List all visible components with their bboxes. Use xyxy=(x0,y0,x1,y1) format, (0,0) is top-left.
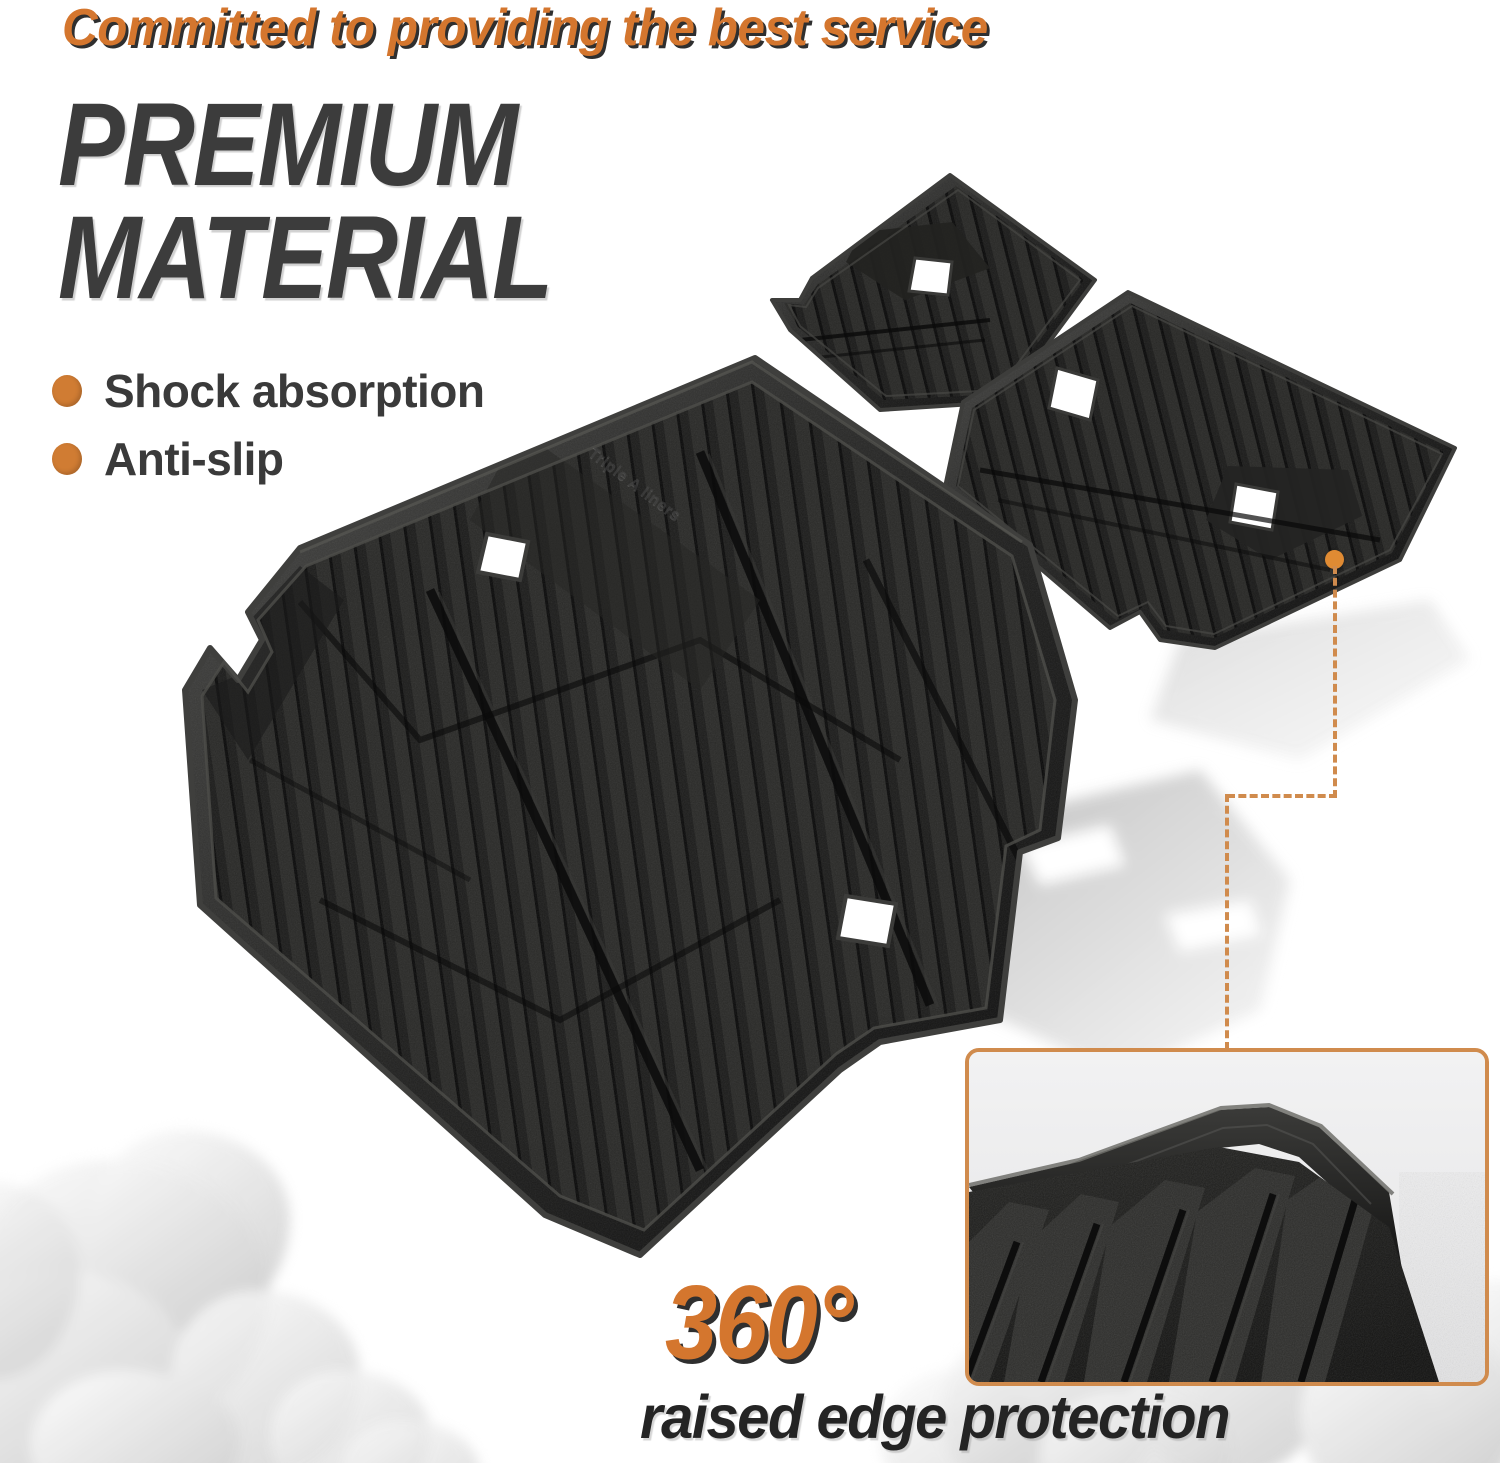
leader-line-vertical-lower xyxy=(1225,794,1229,1050)
raised-edge-closeup-inset xyxy=(965,1048,1489,1386)
bullet-dot-icon xyxy=(52,443,82,475)
closeup-illustration xyxy=(969,1052,1485,1382)
leader-line-vertical-upper xyxy=(1333,566,1337,798)
tagline-headline: Committed to providing the best service xyxy=(62,0,988,58)
bullet-dot-icon xyxy=(52,375,82,407)
product-marketing-image: Triple A liners Committed to providing t… xyxy=(0,0,1500,1463)
feature-label: Shock absorption xyxy=(104,364,484,418)
feature-list: Shock absorption Anti-slip xyxy=(52,364,484,500)
list-item: Shock absorption xyxy=(52,364,484,418)
leader-line-horizontal xyxy=(1227,794,1337,798)
degrees-callout: 360° xyxy=(665,1262,851,1383)
feature-label: Anti-slip xyxy=(104,432,283,486)
page-title: PREMIUM MATERIAL xyxy=(58,88,551,315)
list-item: Anti-slip xyxy=(52,432,484,486)
degrees-subtitle: raised edge protection xyxy=(640,1382,1229,1453)
